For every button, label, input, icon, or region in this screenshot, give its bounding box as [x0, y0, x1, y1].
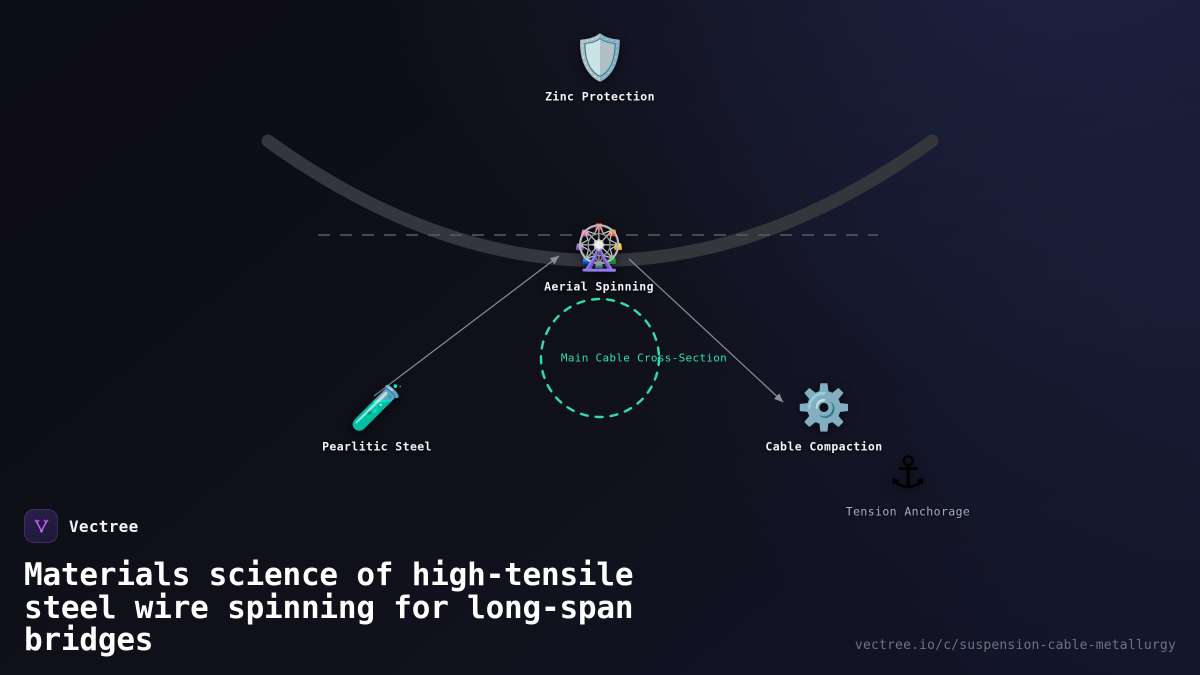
node-zinc-protection[interactable]: 🛡️Zinc Protection	[545, 37, 655, 104]
anchor-icon: ⚓	[888, 452, 927, 496]
shield-icon: 🛡️	[573, 37, 628, 81]
ferris-wheel-icon: 🎡	[572, 227, 627, 271]
source-url: vectree.io/c/suspension-cable-metallurgy	[855, 638, 1176, 653]
brand-row: Vectree	[24, 509, 1176, 543]
test-tube-icon: 🧪	[350, 387, 405, 431]
arrow-pearlitic-to-spinning	[374, 256, 559, 396]
gear-icon: ⚙️	[797, 387, 852, 431]
brand-name: Vectree	[69, 517, 139, 536]
node-pearlitic-steel[interactable]: 🧪Pearlitic Steel	[322, 387, 432, 454]
node-cable-compaction[interactable]: ⚙️Cable Compaction	[765, 387, 882, 454]
node-aerial-spinning[interactable]: 🎡Aerial Spinning	[544, 227, 654, 294]
node-label-pearlitic-steel: Pearlitic Steel	[322, 440, 432, 454]
page-title: Materials science of high-tensile steel …	[24, 559, 784, 657]
node-label-zinc-protection: Zinc Protection	[545, 90, 655, 104]
infographic-canvas: 🛡️Zinc Protection🎡Aerial Spinning🧪Pearli…	[0, 0, 1200, 675]
region-label-main-cable-cross-section: Main Cable Cross-Section	[561, 352, 727, 365]
vectree-v-tree-icon	[24, 509, 58, 543]
node-label-aerial-spinning: Aerial Spinning	[544, 280, 654, 294]
